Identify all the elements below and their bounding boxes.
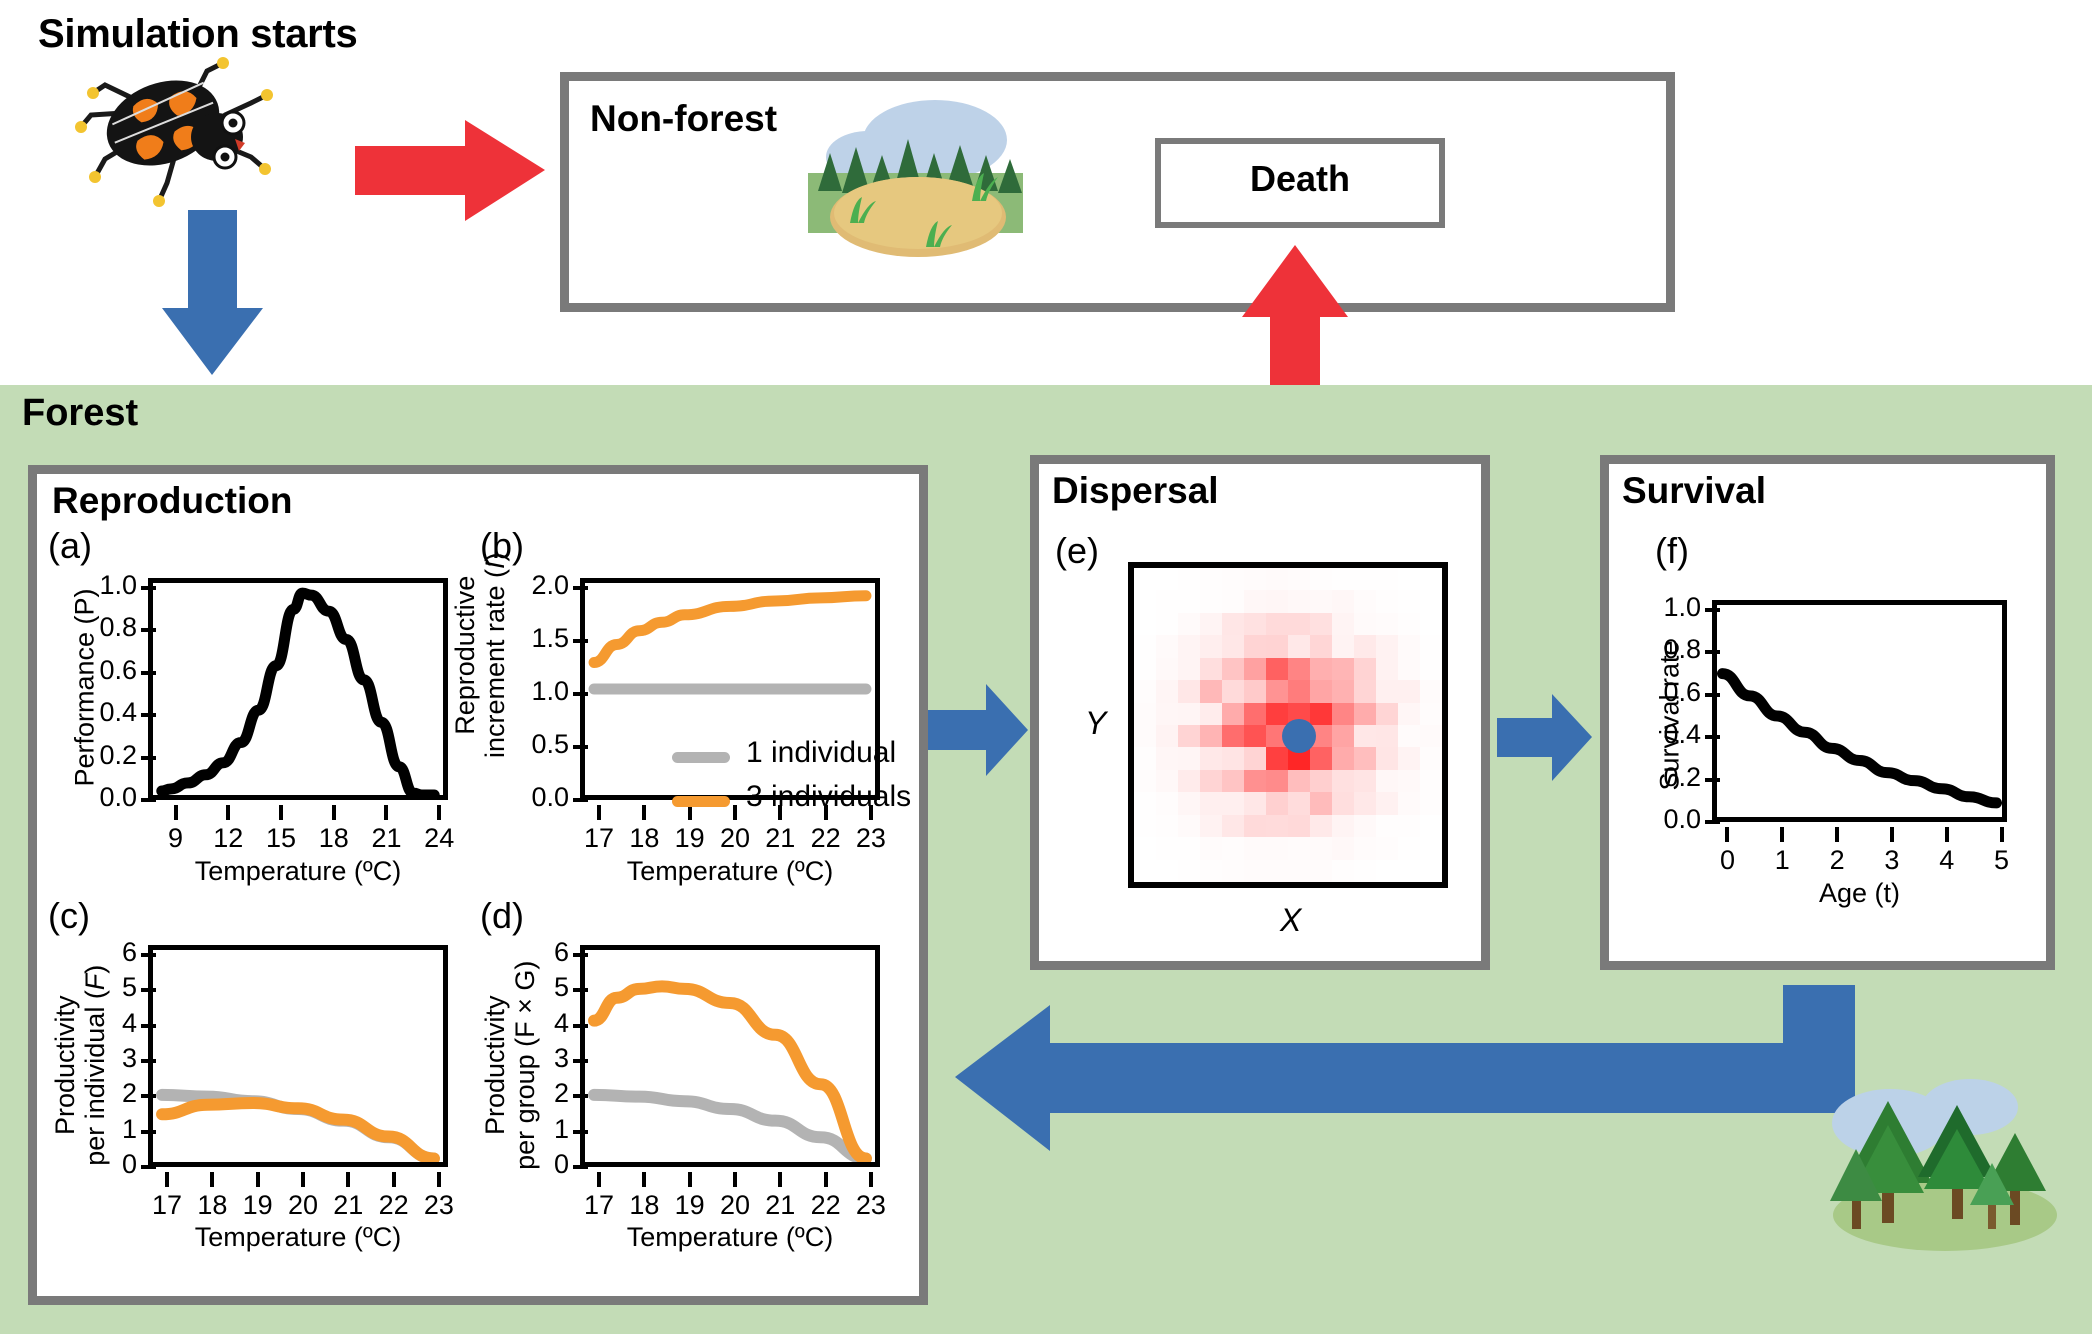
y-tick-label: 1.0 [57,570,137,601]
heatmap-cell [1222,613,1244,635]
y-tick-label: 0.5 [489,729,569,760]
y-tick-mark [573,798,588,802]
heatmap-cell [1310,568,1332,590]
heatmap-cell [1398,792,1420,814]
heatmap-cell [1200,680,1222,702]
heatmap-cell [1222,815,1244,837]
heatmap-cell [1222,703,1244,725]
y-tick-mark [573,1024,588,1028]
heatmap-cell [1222,680,1244,702]
heatmap-cell [1134,815,1156,837]
x-tick-label: 21 [356,823,416,854]
heatmap-cell [1310,770,1332,792]
heatmap-cell [1222,860,1244,882]
panel-e-letter: (e) [1055,530,1099,572]
heatmap-cell [1266,680,1288,702]
heatmap-cell [1288,837,1310,859]
heatmap-cell [1288,815,1310,837]
panel-f-letter: (f) [1655,530,1689,572]
heatmap-cell [1354,658,1376,680]
heatmap-cell [1244,837,1266,859]
y-tick-label: 0.6 [57,655,137,686]
diagram-canvas: Simulation starts [0,0,2092,1334]
y-tick-mark [1705,778,1720,782]
heatmap-cell [1288,613,1310,635]
dispersal-heatmap [1128,562,1448,888]
y-tick-label: 0.4 [1621,719,1701,750]
x-tick-label: 12 [198,823,258,854]
heatmap-cell [1156,792,1178,814]
x-tick-mark [2000,827,2004,842]
heatmap-cell [1376,568,1398,590]
heatmap-cell [1178,658,1200,680]
heatmap-cell [1266,770,1288,792]
heatmap-cell [1244,860,1266,882]
x-tick-mark [165,1172,169,1187]
x-tick-mark [1725,827,1729,842]
heatmap-cell [1200,725,1222,747]
heatmap-cell [1222,635,1244,657]
heatmap-cell [1288,635,1310,657]
y-tick-label: 2.0 [489,570,569,601]
heatmap-cell [1310,590,1332,612]
y-tick-mark [1705,820,1720,824]
x-tick-label: 1 [1752,845,1812,876]
heatmap-cell [1156,590,1178,612]
heatmap-cell [1244,613,1266,635]
heatmap-cell [1200,658,1222,680]
x-tick-mark [869,1172,873,1187]
panel-f-xlabel: Age (t) [1712,878,2007,909]
heatmap-cell [1310,680,1332,702]
x-tick-mark [733,805,737,820]
heatmap-cell [1420,860,1442,882]
heatmap-cell [1420,770,1442,792]
heatmap-cell [1266,747,1288,769]
panel-c-plot-frame [148,945,448,1167]
heatmap-cell [1288,770,1310,792]
heatmap-cell [1376,725,1398,747]
heatmap-cell [1420,725,1442,747]
survival-title: Survival [1622,470,1766,512]
panel-d-xlabel: Temperature (ºC) [580,1222,880,1253]
x-tick-mark [642,1172,646,1187]
heatmap-cell [1354,613,1376,635]
heatmap-cell [1332,658,1354,680]
y-tick-label: 5 [57,972,137,1003]
y-tick-label: 0.0 [57,782,137,813]
x-tick-mark [384,805,388,820]
heatmap-cell [1244,590,1266,612]
y-tick-label: 4 [57,1008,137,1039]
heatmap-cell [1244,747,1266,769]
heatmap-cell [1310,860,1332,882]
x-tick-label: 23 [841,1190,901,1221]
y-tick-label: 0.0 [489,782,569,813]
y-tick-mark [573,988,588,992]
heatmap-cell [1310,747,1332,769]
x-tick-label: 18 [304,823,364,854]
heatmap-cell [1398,613,1420,635]
y-tick-mark [573,586,588,590]
y-tick-mark [141,1094,156,1098]
blue-return-arrow-icon [955,985,1855,1170]
heatmap-cell [1398,680,1420,702]
heatmap-cell [1420,815,1442,837]
legend-label-1-individual: 1 individual [746,736,896,770]
forest-scenery-icon [1820,1065,2065,1255]
heatmap-cell [1156,680,1178,702]
heatmap-cell [1332,703,1354,725]
heatmap-cell [1200,635,1222,657]
heatmap-cell [1354,568,1376,590]
y-tick-label: 0.2 [1621,762,1701,793]
heatmap-cell [1288,792,1310,814]
heatmap-cell [1156,747,1178,769]
heatmap-cell [1420,568,1442,590]
heatmap-cell [1288,590,1310,612]
x-tick-mark [733,1172,737,1187]
legend-label-3-individuals: 3 individuals [746,780,911,814]
y-tick-mark [1705,650,1720,654]
y-tick-mark [573,953,588,957]
heatmap-cell [1156,837,1178,859]
y-tick-label: 0 [489,1149,569,1180]
heatmap-cell [1156,770,1178,792]
panel-f-plot-frame [1712,600,2007,822]
heatmap-cell [1376,770,1398,792]
y-tick-mark [1705,735,1720,739]
death-label: Death [1155,158,1445,200]
x-tick-mark [437,1172,441,1187]
heatmap-cell [1200,703,1222,725]
heatmap-cell [1200,770,1222,792]
beetle-icon [75,55,305,215]
x-tick-mark [392,1172,396,1187]
heatmap-cell [1178,725,1200,747]
heatmap-cell [1266,837,1288,859]
heatmap-cell [1178,747,1200,769]
heatmap-cell [1376,680,1398,702]
heatmap-cell [1398,658,1420,680]
heatmap-cell [1266,815,1288,837]
x-tick-label: 9 [146,823,206,854]
heatmap-cell [1332,590,1354,612]
heatmap-cell [1134,792,1156,814]
x-tick-mark [279,805,283,820]
heatmap-cell [1266,658,1288,680]
heatmap-cell [1222,568,1244,590]
heatmap-cell [1134,703,1156,725]
x-tick-label: 3 [1862,845,1922,876]
heatmap-cell [1222,770,1244,792]
x-tick-label: 4 [1917,845,1977,876]
heatmap-cell [1354,725,1376,747]
heatmap-cell [1288,568,1310,590]
heatmap-cell [1354,815,1376,837]
y-tick-label: 1 [57,1114,137,1145]
x-tick-mark [256,1172,260,1187]
heatmap-cell [1222,725,1244,747]
panel-a-xlabel: Temperature (ºC) [148,856,448,887]
y-tick-mark [141,628,156,632]
x-tick-mark [332,805,336,820]
y-tick-mark [573,1165,588,1169]
heatmap-cell [1244,770,1266,792]
heatmap-cell [1420,792,1442,814]
x-tick-mark [597,805,601,820]
y-tick-label: 3 [489,1043,569,1074]
x-tick-label: 5 [1972,845,2032,876]
heatmap-cell [1288,860,1310,882]
heatmap-cell [1376,837,1398,859]
y-tick-label: 1 [489,1114,569,1145]
heatmap-cell [1156,568,1178,590]
heatmap-cell [1354,590,1376,612]
legend-swatch-1-individual [672,752,730,763]
y-tick-label: 0 [57,1149,137,1180]
heatmap-cell [1332,568,1354,590]
heatmap-cell [1310,658,1332,680]
x-tick-mark [597,1172,601,1187]
heatmap-cell [1178,613,1200,635]
heatmap-cell [1398,568,1420,590]
heatmap-cell [1156,815,1178,837]
blue-right-arrow-icon-2 [1497,690,1592,785]
y-tick-mark [141,798,156,802]
heatmap-cell [1376,815,1398,837]
heatmap-cell [1354,770,1376,792]
heatmap-cell [1420,680,1442,702]
blue-right-arrow-icon [928,680,1028,780]
heatmap-cell [1134,590,1156,612]
y-tick-mark [141,1024,156,1028]
y-tick-mark [573,745,588,749]
heatmap-cell [1266,635,1288,657]
x-tick-mark [642,805,646,820]
simulation-starts-label: Simulation starts [38,12,357,57]
x-tick-mark [688,1172,692,1187]
heatmap-cell [1376,703,1398,725]
heatmap-cell [1266,792,1288,814]
y-tick-label: 0.4 [57,697,137,728]
heatmap-cell [1178,815,1200,837]
heatmap-cell [1266,568,1288,590]
heatmap-cell [1134,837,1156,859]
heatmap-cell [1156,703,1178,725]
heatmap-cell [1134,658,1156,680]
y-tick-label: 5 [489,972,569,1003]
heatmap-cell [1376,792,1398,814]
y-tick-mark [573,692,588,696]
heatmap-cell [1354,747,1376,769]
blue-down-arrow-icon [160,210,265,375]
heatmap-cell [1200,860,1222,882]
y-tick-label: 0.8 [57,612,137,643]
y-tick-mark [141,671,156,675]
x-tick-label: 24 [409,823,469,854]
x-tick-mark [824,1172,828,1187]
heatmap-cell [1376,613,1398,635]
heatmap-cell [1398,725,1420,747]
heatmap-cell [1134,635,1156,657]
heatmap-cell [1200,837,1222,859]
heatmap-cell [1398,590,1420,612]
heatmap-cell [1376,590,1398,612]
panel-d-plot-frame [580,945,880,1167]
panel-a-plot-frame [148,578,448,800]
heatmap-cell [1398,860,1420,882]
non-forest-title: Non-forest [590,98,777,140]
heatmap-cell [1420,613,1442,635]
x-tick-label: 15 [251,823,311,854]
y-tick-label: 0.2 [57,740,137,771]
heatmap-cell [1244,703,1266,725]
heatmap-cell [1420,635,1442,657]
y-tick-label: 6 [489,937,569,968]
heatmap-cell [1178,703,1200,725]
heatmap-cell [1266,590,1288,612]
y-tick-mark [141,756,156,760]
x-tick-label: 0 [1697,845,1757,876]
heatmap-cell [1266,703,1288,725]
x-tick-mark [210,1172,214,1187]
heatmap-cell [1310,815,1332,837]
heatmap-cell [1244,568,1266,590]
heatmap-cell [1134,747,1156,769]
heatmap-cell [1244,658,1266,680]
x-tick-mark [1945,827,1949,842]
heatmap-cell [1420,747,1442,769]
x-tick-mark [1780,827,1784,842]
heatmap-cell [1222,792,1244,814]
heatmap-cell [1332,815,1354,837]
heatmap-cell [1376,860,1398,882]
heatmap-cell [1376,658,1398,680]
heatmap-cell [1134,568,1156,590]
heatmap-cell [1310,792,1332,814]
y-tick-mark [573,1094,588,1098]
heatmap-cell [1244,680,1266,702]
y-tick-label: 3 [57,1043,137,1074]
heatmap-cell [1332,747,1354,769]
heatmap-cell [1310,703,1332,725]
heatmap-cell [1398,815,1420,837]
heatmap-cell [1332,770,1354,792]
y-tick-mark [1705,608,1720,612]
heatmap-cell [1332,635,1354,657]
panel-e-xlabel: X [1280,902,1301,939]
heatmap-cell [1134,725,1156,747]
heatmap-cell [1244,635,1266,657]
heatmap-cell [1420,703,1442,725]
heatmap-cell [1376,747,1398,769]
red-right-arrow-icon [355,118,545,223]
heatmap-cell [1310,613,1332,635]
heatmap-cell [1178,770,1200,792]
heatmap-cell [1266,860,1288,882]
heatmap-cell [1332,725,1354,747]
y-tick-label: 4 [489,1008,569,1039]
y-tick-mark [141,1059,156,1063]
clearing-scenery-icon [790,95,1040,260]
heatmap-cell [1178,792,1200,814]
y-tick-mark [573,639,588,643]
y-tick-label: 1.5 [489,623,569,654]
heatmap-cell [1310,635,1332,657]
heatmap-cell [1200,590,1222,612]
heatmap-cell [1332,860,1354,882]
x-tick-mark [688,805,692,820]
heatmap-cell [1376,635,1398,657]
heatmap-cell [1354,792,1376,814]
panel-e-ylabel: Y [1085,705,1106,742]
y-tick-mark [1705,693,1720,697]
heatmap-cell [1134,860,1156,882]
x-tick-mark [346,1172,350,1187]
y-tick-label: 1.0 [489,676,569,707]
heatmap-cell [1332,680,1354,702]
panel-b-xlabel: Temperature (ºC) [580,856,880,887]
heatmap-cell [1156,635,1178,657]
heatmap-cell [1354,860,1376,882]
heatmap-cell [1420,837,1442,859]
heatmap-cell [1266,613,1288,635]
y-tick-mark [573,1130,588,1134]
heatmap-cell [1354,680,1376,702]
heatmap-cell [1156,725,1178,747]
heatmap-cell [1332,837,1354,859]
heatmap-cell [1398,747,1420,769]
y-tick-mark [141,713,156,717]
y-tick-mark [573,1059,588,1063]
x-tick-mark [1890,827,1894,842]
heatmap-cell [1354,837,1376,859]
dispersal-title: Dispersal [1052,470,1219,512]
heatmap-cell [1354,703,1376,725]
heatmap-cell [1178,590,1200,612]
heatmap-cell [1420,658,1442,680]
heatmap-cell [1134,680,1156,702]
heatmap-cell [1178,635,1200,657]
heatmap-cell [1222,747,1244,769]
x-tick-label: 23 [409,1190,469,1221]
heatmap-cell [1222,837,1244,859]
x-tick-label: 2 [1807,845,1867,876]
heatmap-cell [1332,792,1354,814]
x-tick-mark [778,1172,782,1187]
heatmap-cell [1354,635,1376,657]
y-tick-mark [141,1165,156,1169]
heatmap-cell [1398,837,1420,859]
heatmap-cell [1134,770,1156,792]
y-tick-mark [141,1130,156,1134]
panel-c-xlabel: Temperature (ºC) [148,1222,448,1253]
heatmap-cell [1222,590,1244,612]
x-tick-mark [1835,827,1839,842]
heatmap-cell [1156,860,1178,882]
heatmap-cell [1332,613,1354,635]
y-tick-label: 2 [57,1078,137,1109]
heatmap-cell [1156,613,1178,635]
heatmap-cell [1288,658,1310,680]
y-tick-label: 0.6 [1621,677,1701,708]
forest-label: Forest [22,392,138,435]
heatmap-cell [1178,568,1200,590]
heatmap-cell [1244,792,1266,814]
legend-swatch-3-individuals [672,796,730,807]
heatmap-cell [1200,792,1222,814]
